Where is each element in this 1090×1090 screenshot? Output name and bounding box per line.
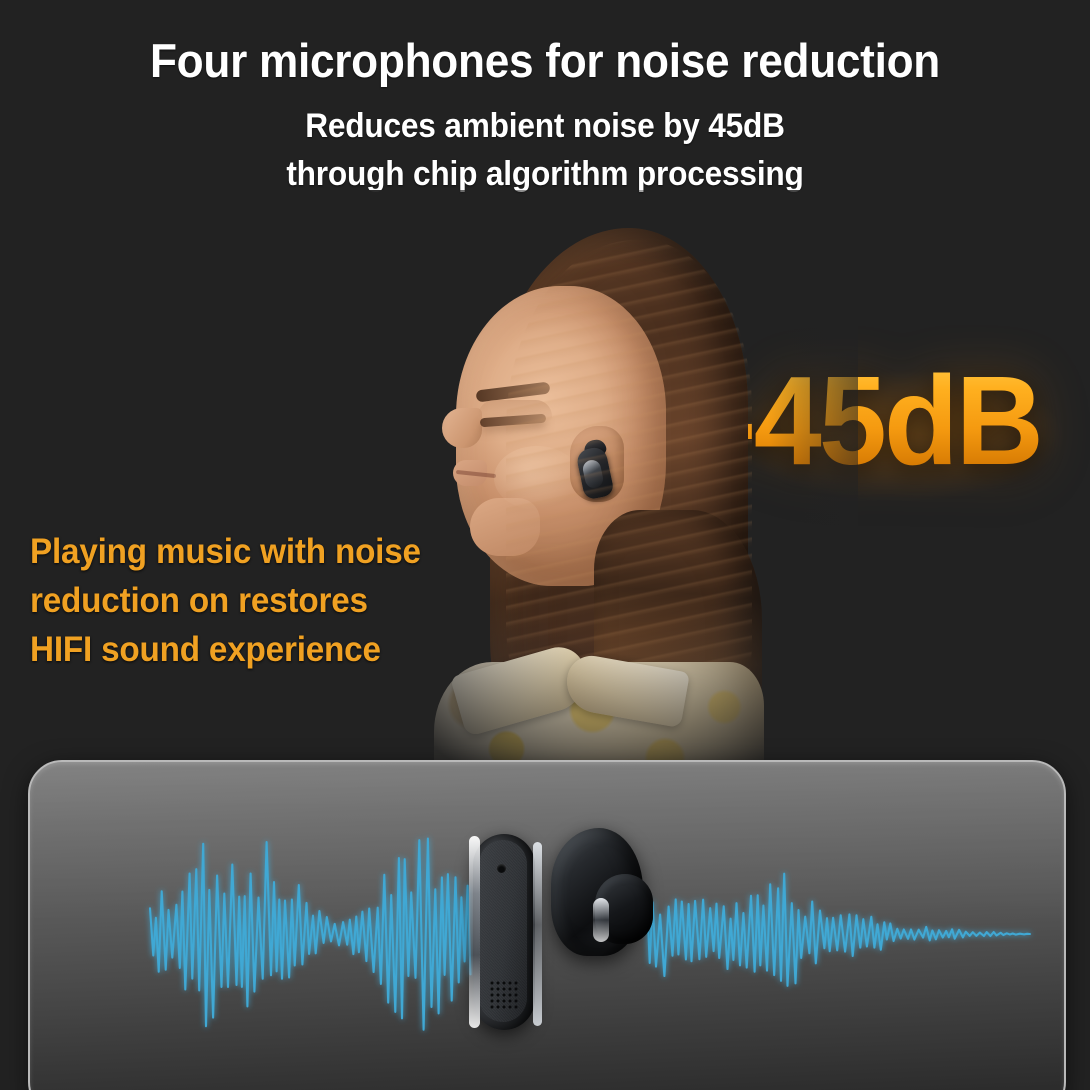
earbud-stem-chrome-left [469, 836, 480, 1028]
earbud-mic-grille-icon [489, 980, 519, 1010]
waveform-input-noisy [150, 839, 471, 1030]
model-nose [442, 408, 482, 448]
earbud-stem-chrome-right [533, 842, 542, 1026]
feature-text-block: Playing music with noise reduction on re… [30, 527, 441, 674]
hero-model-photo [398, 210, 818, 785]
feature-text-line-3: HIFI sound experience [30, 625, 421, 674]
page-title: Four microphones for noise reduction [33, 36, 1058, 85]
earbud-tip-highlight [593, 898, 609, 942]
subheadline-line-1: Reduces ambient noise by 45dB [38, 107, 1052, 146]
product-banner: Four microphones for noise reduction Red… [0, 0, 1090, 1090]
product-earbud [455, 812, 651, 1038]
feature-text-line-2: reduction on restores [30, 576, 421, 625]
earbud-microphone-dot [497, 864, 506, 873]
waveform-output-reduced [647, 874, 1030, 986]
feature-text-line-1: Playing music with noise [30, 527, 421, 576]
subheadline-line-2: through chip algorithm processing [38, 155, 1052, 194]
